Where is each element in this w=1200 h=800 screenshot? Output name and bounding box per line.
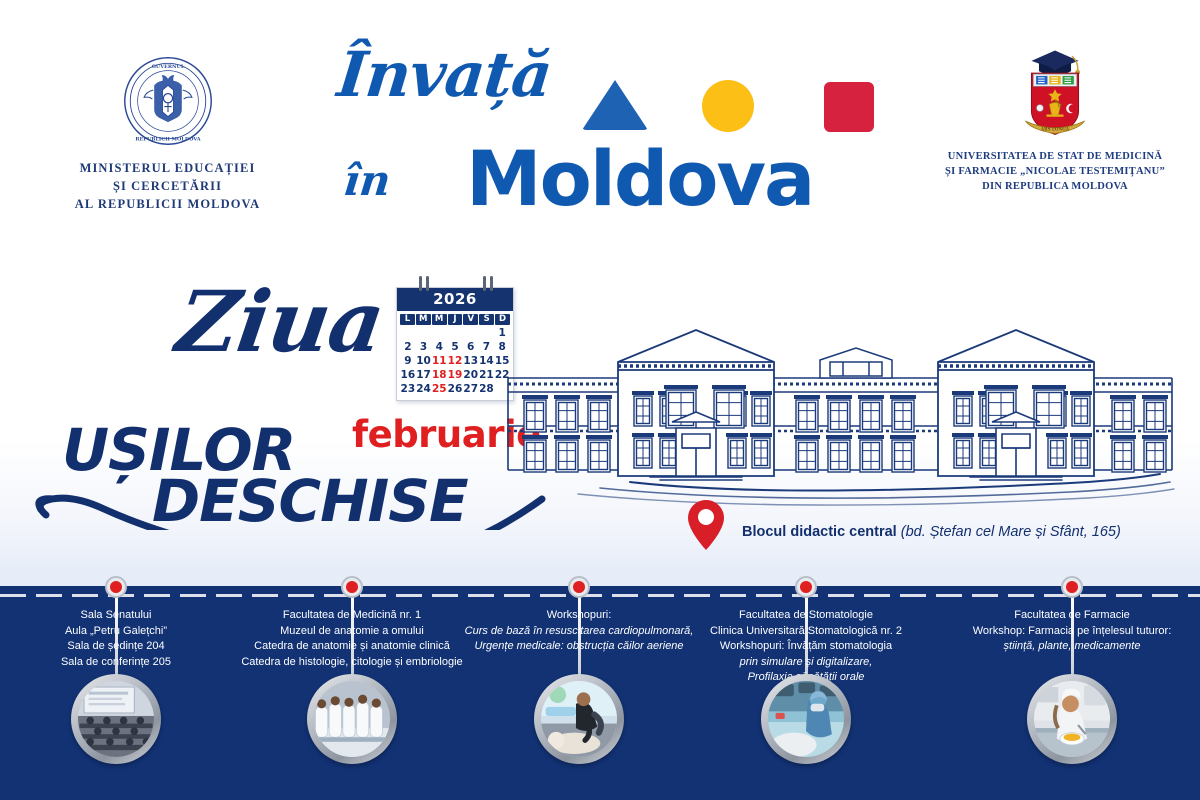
calendar-widget: 2026 LMMJVSD ......123456789101112131415… — [396, 287, 514, 401]
square-shape-icon — [824, 82, 874, 132]
university-logo-block: ARS LONGA UNIVERSITATEA DE STAT DE MEDIC… — [940, 42, 1170, 195]
calendar-weekday-header: LMMJVSD — [397, 311, 513, 326]
calendar-day-10[interactable]: 10 — [416, 355, 432, 368]
photo-frame — [307, 674, 397, 764]
ministry-name: MINISTERUL EDUCAȚIEI ȘI CERCETĂRII AL RE… — [40, 159, 295, 213]
lecture-hall-photo — [78, 681, 154, 757]
timeline-item-text: Facultatea de Medicină nr. 1Muzeul de an… — [227, 608, 477, 670]
timeline-line-4: prin simulare și digitalizare, — [681, 655, 931, 671]
calendar-day-9[interactable]: 9 — [400, 355, 416, 368]
calendar-day-grid: ......1234567891011121314151617181920212… — [397, 326, 513, 400]
pharmacy-lab-photo — [1034, 681, 1110, 757]
timeline-line-2: Curs de bază în resuscitarea cardiopulmo… — [454, 624, 704, 640]
title-ziua: Ziua — [171, 272, 390, 371]
calendar-rings — [397, 276, 515, 290]
calendar-day-11[interactable]: 11 — [431, 355, 447, 368]
university-name: UNIVERSITATEA DE STAT DE MEDICINĂ ȘI FAR… — [940, 150, 1170, 195]
photo-frame — [71, 674, 161, 764]
timeline-item-text: Sala SenatuluiAula „Petru Galețchi”Sala … — [0, 608, 232, 670]
moldova-state-seal-icon: GUVERNUL REPUBLICII MOLDOVA — [122, 55, 214, 147]
calendar-weekday-4: V — [463, 314, 478, 325]
calendar-day-28[interactable]: 28 — [479, 383, 495, 396]
calendar-day-24[interactable]: 24 — [416, 383, 432, 396]
timeline-dot-icon[interactable] — [1061, 576, 1083, 598]
timeline-line-1: Facultatea de Farmacie — [944, 608, 1200, 624]
brand-word-invata: Învață — [334, 38, 555, 111]
brand-word-in: în — [341, 156, 393, 205]
calendar-weekday-1: M — [416, 314, 431, 325]
timeline-line-1: Facultatea de Stomatologie — [681, 608, 931, 624]
timeline-line-4: Sala de conferințe 205 — [0, 655, 232, 671]
timeline-line-3: Urgențe medicale: obstrucția căilor aeri… — [454, 639, 704, 655]
calendar-day-2[interactable]: 2 — [400, 341, 416, 354]
timeline-line-1: Sala Senatului — [0, 608, 232, 624]
poster-header: GUVERNUL REPUBLICII MOLDOVA MINISTERUL E… — [0, 0, 1200, 232]
timeline-line-3: Catedra de anatomie și anatomie clinică — [227, 639, 477, 655]
poster-root: GUVERNUL REPUBLICII MOLDOVA MINISTERUL E… — [0, 0, 1200, 800]
calendar-day-3[interactable]: 3 — [416, 341, 432, 354]
timeline-item-1[interactable]: Sala SenatuluiAula „Petru Galețchi”Sala … — [0, 586, 232, 800]
location-block: Blocul didactic central (bd. Ștefan cel … — [686, 498, 1186, 558]
svg-text:GUVERNUL: GUVERNUL — [151, 64, 184, 70]
calendar-day-26[interactable]: 26 — [447, 383, 463, 396]
calendar-weekday-5: S — [479, 314, 494, 325]
timeline-item-3[interactable]: Workshopuri:Curs de bază în resuscitarea… — [454, 586, 704, 800]
timeline-line-4: Catedra de histologie, citologie și embr… — [227, 655, 477, 671]
calendar-day-5[interactable]: 5 — [447, 341, 463, 354]
dental-simulation-photo — [768, 681, 844, 757]
timeline-line-2: Workshop: Farmacia pe înțelesul tuturor: — [944, 624, 1200, 640]
usmf-coat-of-arms-icon: ARS LONGA — [1012, 42, 1098, 142]
timeline-line-3: Workshopuri: Învățăm stomatologia — [681, 639, 931, 655]
photo-frame — [1027, 674, 1117, 764]
timeline-line-3: știință, plante, medicamente — [944, 639, 1200, 655]
calendar-day-13[interactable]: 13 — [463, 355, 479, 368]
title-deschise: DESCHISE — [152, 467, 468, 535]
calendar-day-7[interactable]: 7 — [479, 341, 495, 354]
timeline-item-text: Workshopuri:Curs de bază în resuscitarea… — [454, 608, 704, 655]
invata-in-moldova-logo: Învață în Moldova — [330, 38, 890, 218]
location-text: Blocul didactic central (bd. Ștefan cel … — [742, 524, 1121, 540]
timeline-item-2[interactable]: Facultatea de Medicină nr. 1Muzeul de an… — [227, 586, 477, 800]
calendar-day-27[interactable]: 27 — [463, 383, 479, 396]
calendar-weekday-0: L — [400, 314, 415, 325]
timeline-line-1: Workshopuri: — [454, 608, 704, 624]
calendar-day-4[interactable]: 4 — [431, 341, 447, 354]
calendar-day-14[interactable]: 14 — [479, 355, 495, 368]
calendar-day-16[interactable]: 16 — [400, 369, 416, 382]
timeline-item-5[interactable]: Facultatea de FarmacieWorkshop: Farmacia… — [944, 586, 1200, 800]
calendar-day-6[interactable]: 6 — [463, 341, 479, 354]
calendar-day-21[interactable]: 21 — [479, 369, 495, 382]
timeline-dot-icon[interactable] — [341, 576, 363, 598]
calendar-day-23[interactable]: 23 — [400, 383, 416, 396]
svg-text:ARS LONGA: ARS LONGA — [1040, 127, 1070, 132]
brand-word-moldova: Moldova — [466, 143, 813, 215]
calendar-weekday-2: M — [432, 314, 447, 325]
map-pin-icon — [686, 498, 726, 552]
calendar-day-18[interactable]: 18 — [431, 369, 447, 382]
timeline-dot-icon[interactable] — [795, 576, 817, 598]
timeline-dot-icon[interactable] — [105, 576, 127, 598]
calendar-year: 2026 — [397, 288, 513, 311]
timeline-dot-icon[interactable] — [568, 576, 590, 598]
cpr-training-photo — [541, 681, 617, 757]
calendar-weekday-3: J — [448, 314, 463, 325]
ministry-logo-block: GUVERNUL REPUBLICII MOLDOVA MINISTERUL E… — [40, 55, 295, 213]
timeline-item-4[interactable]: Facultatea de StomatologieClinica Univer… — [681, 586, 931, 800]
location-name: Blocul didactic central — [742, 524, 897, 540]
timeline-item-text: Facultatea de FarmacieWorkshop: Farmacia… — [944, 608, 1200, 655]
calendar-day-20[interactable]: 20 — [463, 369, 479, 382]
timeline-band: Sala SenatuluiAula „Petru Galețchi”Sala … — [0, 586, 1200, 800]
photo-frame — [761, 674, 851, 764]
timeline-line-2: Clinica Universitară Stomatologică nr. 2 — [681, 624, 931, 640]
calendar-day-19[interactable]: 19 — [447, 369, 463, 382]
calendar-day-12[interactable]: 12 — [447, 355, 463, 368]
central-teaching-block-illustration — [500, 300, 1180, 515]
location-address: (bd. Ștefan cel Mare și Sfânt, 165) — [901, 524, 1121, 540]
timeline-line-2: Muzeul de anatomie a omului — [227, 624, 477, 640]
timeline-line-2: Aula „Petru Galețchi” — [0, 624, 232, 640]
photo-frame — [534, 674, 624, 764]
circle-shape-icon — [702, 80, 754, 132]
svg-text:REPUBLICII MOLDOVA: REPUBLICII MOLDOVA — [135, 137, 200, 143]
anatomy-students-photo — [314, 681, 390, 757]
timeline-line-1: Facultatea de Medicină nr. 1 — [227, 608, 477, 624]
timeline-line-3: Sala de ședințe 204 — [0, 639, 232, 655]
triangle-shape-icon — [582, 80, 648, 130]
calendar-day-17[interactable]: 17 — [416, 369, 432, 382]
calendar-day-25[interactable]: 25 — [431, 383, 447, 396]
